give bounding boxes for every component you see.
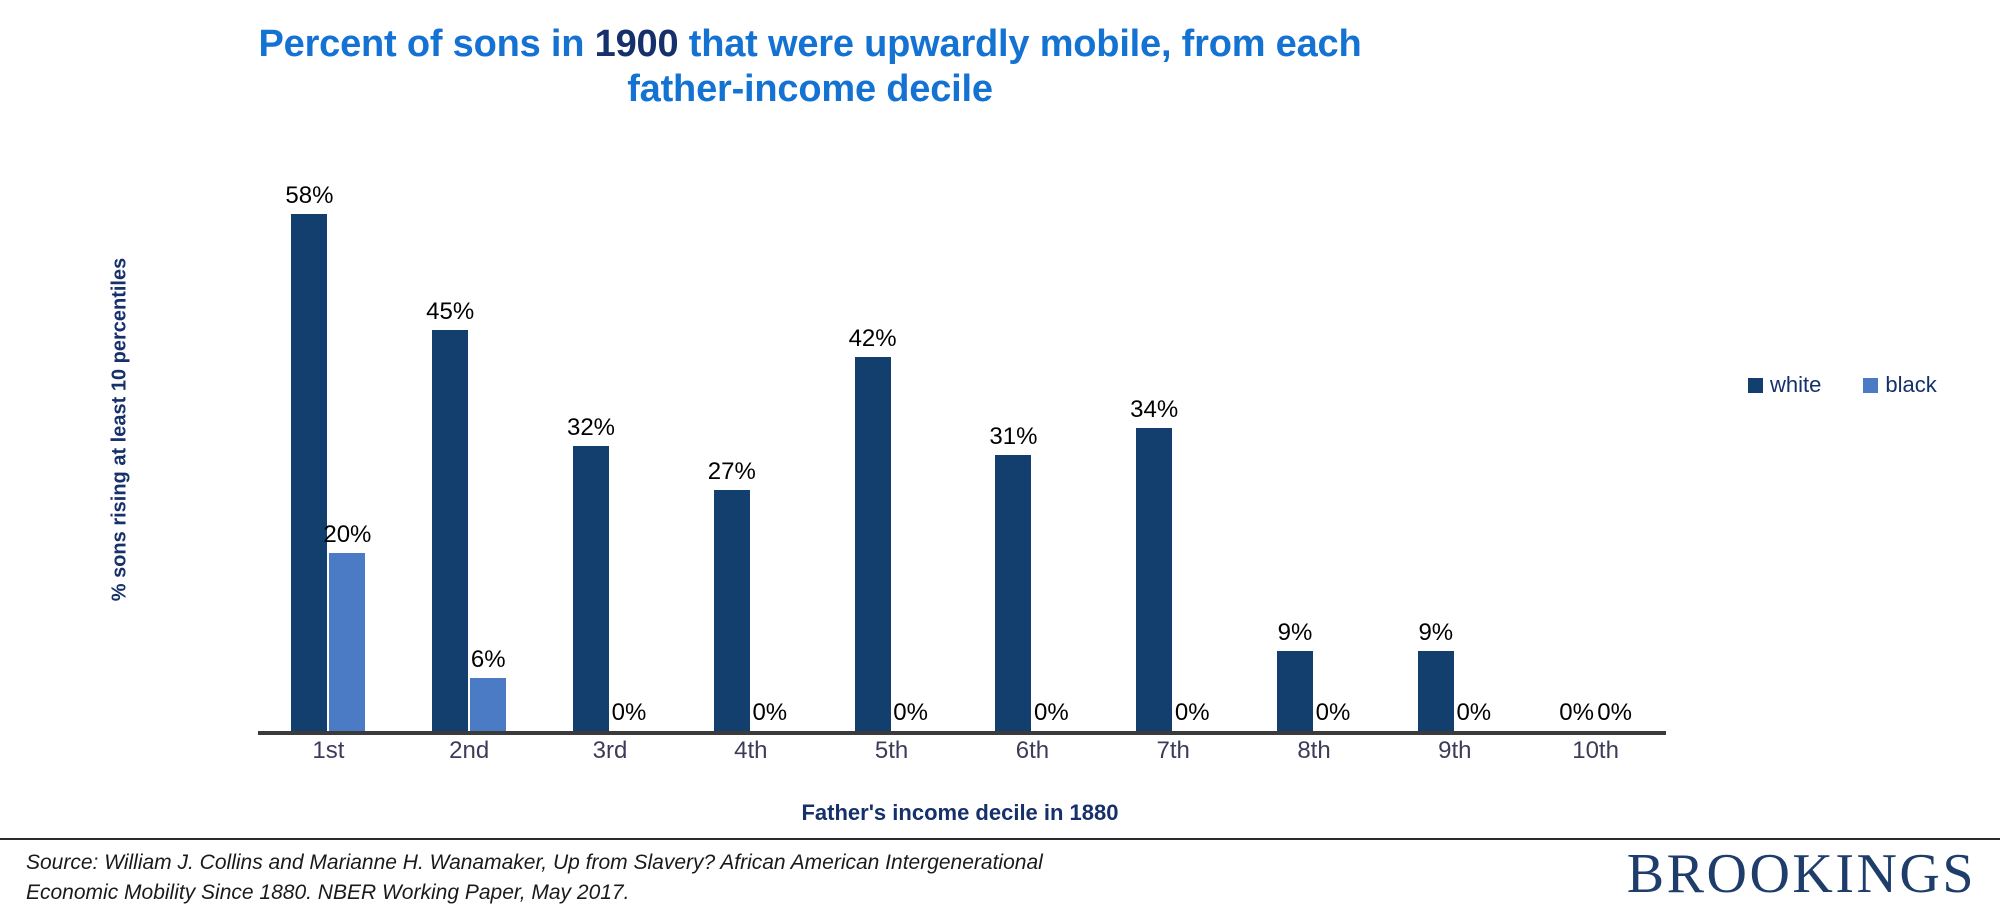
brookings-logo: BROOKINGS [1627,846,1976,902]
title-part-1: Percent of sons in [258,23,594,65]
legend-swatch-black [1863,378,1878,393]
x-axis-title: Father's income decile in 1880 [260,800,1660,826]
legend-label: black [1885,372,1936,398]
bar-group-10th: 0%0%10th [1525,175,1666,731]
x-tick-1st: 1st [248,737,408,765]
legend-label: white [1770,372,1821,398]
title-year-accent: 1900 [595,23,679,65]
bar-value-label-white-7th: 34% [1094,396,1214,424]
bar-white-6th[interactable] [995,455,1031,731]
y-axis-title: % sons rising at least 10 percentiles [109,220,132,640]
bar-value-label-white-4th: 27% [672,458,792,486]
x-tick-7th: 7th [1093,737,1253,765]
bar-value-label-white-5th: 42% [813,325,933,353]
page-title: Percent of sons in 1900 that were upward… [220,22,1400,112]
bar-value-label-black-1st: 20% [287,521,407,549]
source-line-2: Economic Mobility Since 1880. NBER Worki… [26,878,1326,908]
source-note: Source: William J. Collins and Marianne … [26,848,1326,908]
legend-item-black[interactable]: black [1863,372,1936,398]
bar-value-label-black-10th: 0% [1555,699,1675,727]
bar-value-label-white-6th: 31% [953,423,1073,451]
bar-white-5th[interactable] [855,357,891,731]
chart-legend: whiteblack [1748,372,1937,398]
bar-white-3rd[interactable] [573,446,609,731]
bar-group-8th: 9%0%8th [1244,175,1385,731]
x-tick-5th: 5th [812,737,972,765]
title-part-2: that were upwardly mobile, from each fat… [627,23,1361,110]
bar-group-7th: 34%0%7th [1103,175,1244,731]
bar-value-label-black-4th: 0% [710,699,830,727]
x-tick-9th: 9th [1375,737,1535,765]
bar-black-2nd[interactable] [470,678,506,731]
plot-area: 58%20%1st45%6%2nd32%0%3rd27%0%4th42%0%5t… [258,175,1666,735]
legend-swatch-white [1748,378,1763,393]
bar-value-label-white-2nd: 45% [390,298,510,326]
bar-value-label-black-5th: 0% [851,699,971,727]
bar-group-3rd: 32%0%3rd [540,175,681,731]
footer-divider [0,838,2000,840]
bar-group-2nd: 45%6%2nd [399,175,540,731]
source-line-1: Source: William J. Collins and Marianne … [26,848,1326,878]
x-tick-10th: 10th [1516,737,1676,765]
x-tick-4th: 4th [671,737,831,765]
bar-value-label-black-2nd: 6% [428,646,548,674]
legend-item-white[interactable]: white [1748,372,1821,398]
bar-value-label-white-3rd: 32% [531,414,651,442]
bar-group-6th: 31%0%6th [962,175,1103,731]
bar-value-label-white-8th: 9% [1235,619,1355,647]
x-axis-line [258,731,1666,735]
bar-group-5th: 42%0%5th [821,175,962,731]
bar-value-label-black-8th: 0% [1273,699,1393,727]
bar-white-7th[interactable] [1136,428,1172,731]
bar-group-4th: 27%0%4th [680,175,821,731]
chart-canvas: Percent of sons in 1900 that were upward… [0,0,2000,910]
bar-value-label-black-7th: 0% [1132,699,1252,727]
bar-group-1st: 58%20%1st [258,175,399,731]
x-tick-8th: 8th [1234,737,1394,765]
bar-group-9th: 9%0%9th [1384,175,1525,731]
x-tick-3rd: 3rd [530,737,690,765]
bar-value-label-black-3rd: 0% [569,699,689,727]
bar-value-label-black-6th: 0% [991,699,1111,727]
x-tick-2nd: 2nd [389,737,549,765]
x-tick-6th: 6th [952,737,1112,765]
bar-value-label-white-9th: 9% [1376,619,1496,647]
bar-white-1st[interactable] [291,214,327,731]
bar-white-4th[interactable] [714,490,750,731]
bar-value-label-white-1st: 58% [249,182,369,210]
bar-black-1st[interactable] [329,553,365,731]
